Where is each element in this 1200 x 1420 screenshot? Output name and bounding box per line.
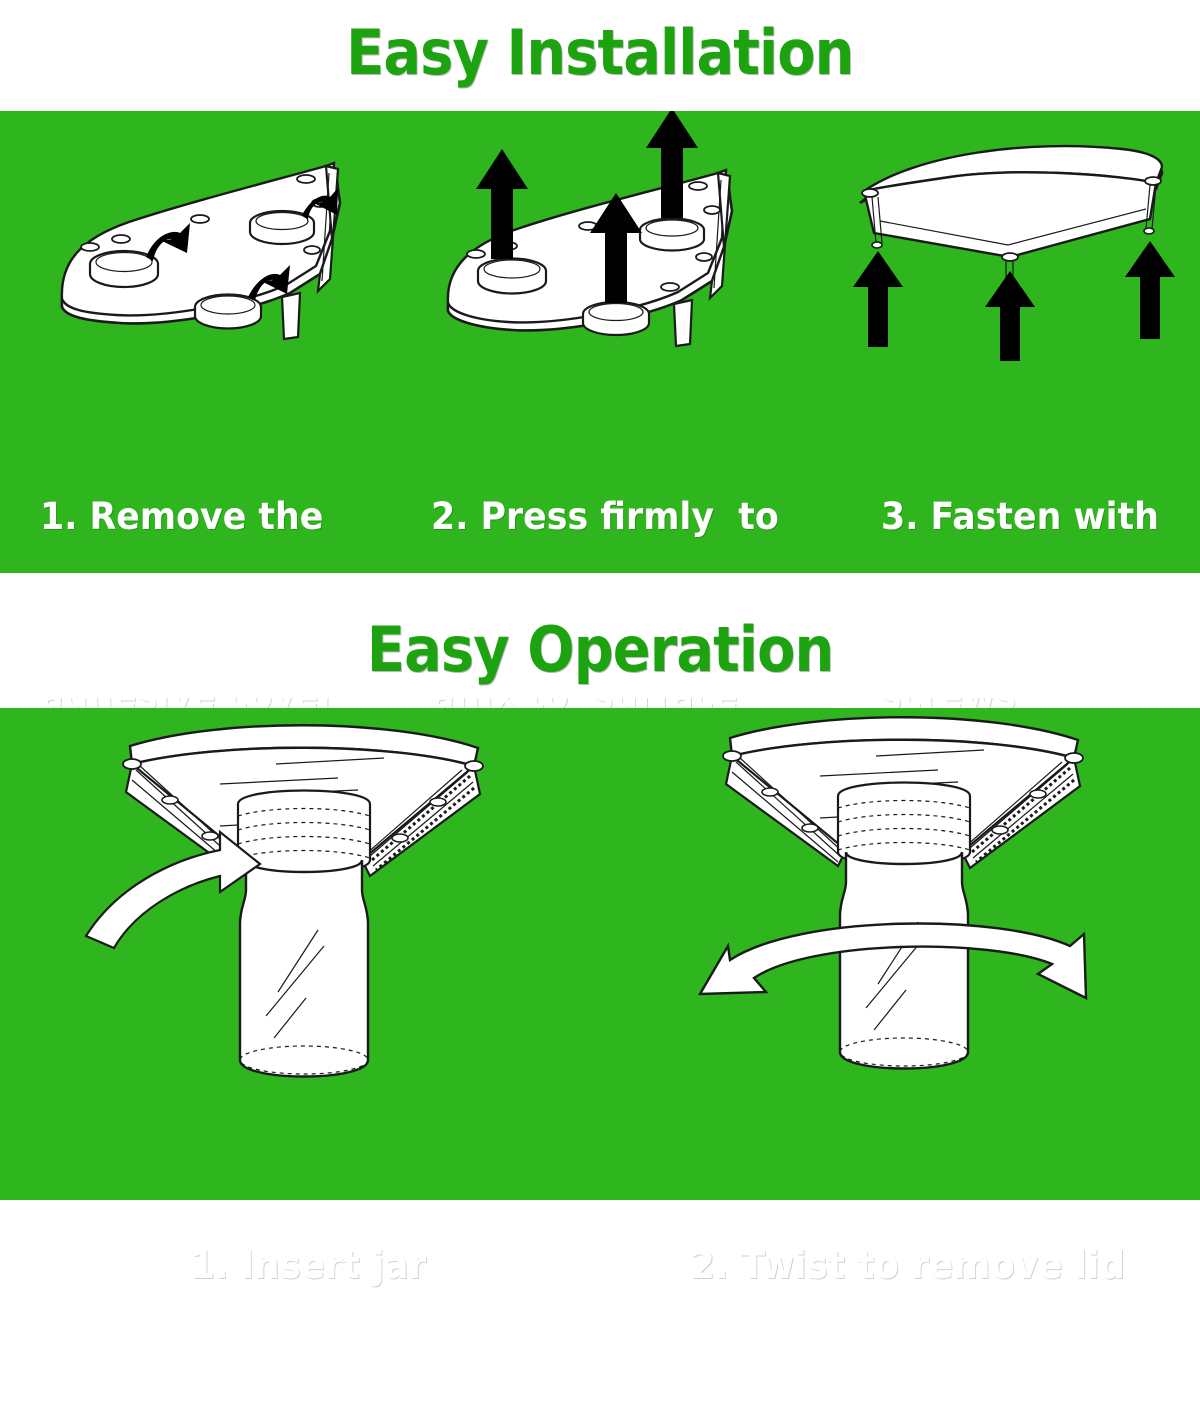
installation-title-text: Easy Installation <box>346 16 853 89</box>
operation-step-1: 1. Insert jar <box>0 708 600 1200</box>
installation-steps: 1. Remove the adhesive cover <box>0 111 1200 573</box>
install-step-1: 1. Remove the adhesive cover <box>0 111 399 573</box>
screw-arrow <box>853 251 903 347</box>
section-title-operation: Easy Operation <box>0 600 1200 698</box>
operation-panel: 1. Insert jar <box>0 708 1200 1200</box>
install-step-2-caption-line1: 2. Press firmly to <box>431 487 779 547</box>
install-step-3: 3. Fasten with screws <box>801 111 1200 573</box>
operation-step-2: 2. Twist to remove lid <box>600 708 1200 1200</box>
operation-steps: 1. Insert jar <box>0 708 1200 1200</box>
operation-title-text: Easy Operation <box>367 613 833 686</box>
install-step-3-caption-line1: 3. Fasten with <box>881 487 1159 547</box>
install-step-1-caption-line1: 1. Remove the <box>40 487 336 547</box>
operation-step-2-caption: 2. Twist to remove lid <box>690 1112 1125 1420</box>
operation-step-1-caption-line1: 1. Insert jar <box>190 1235 426 1297</box>
install-step-2: 2. Press firmly to affix to surface <box>399 111 801 573</box>
install-step-1-illustration <box>0 111 399 361</box>
install-step-3-illustration <box>801 111 1200 361</box>
operation-step-2-illustration <box>600 708 1200 1108</box>
section-title-installation: Easy Installation <box>0 4 1200 100</box>
operation-step-1-caption: 1. Insert jar <box>190 1112 426 1420</box>
insert-arrow <box>86 832 260 948</box>
operation-step-1-illustration <box>0 708 600 1108</box>
installation-panel: 1. Remove the adhesive cover <box>0 111 1200 573</box>
install-step-2-illustration <box>399 111 801 361</box>
operation-step-2-caption-line1: 2. Twist to remove lid <box>690 1235 1125 1297</box>
instruction-graphic: Easy Installation <box>0 0 1200 1200</box>
